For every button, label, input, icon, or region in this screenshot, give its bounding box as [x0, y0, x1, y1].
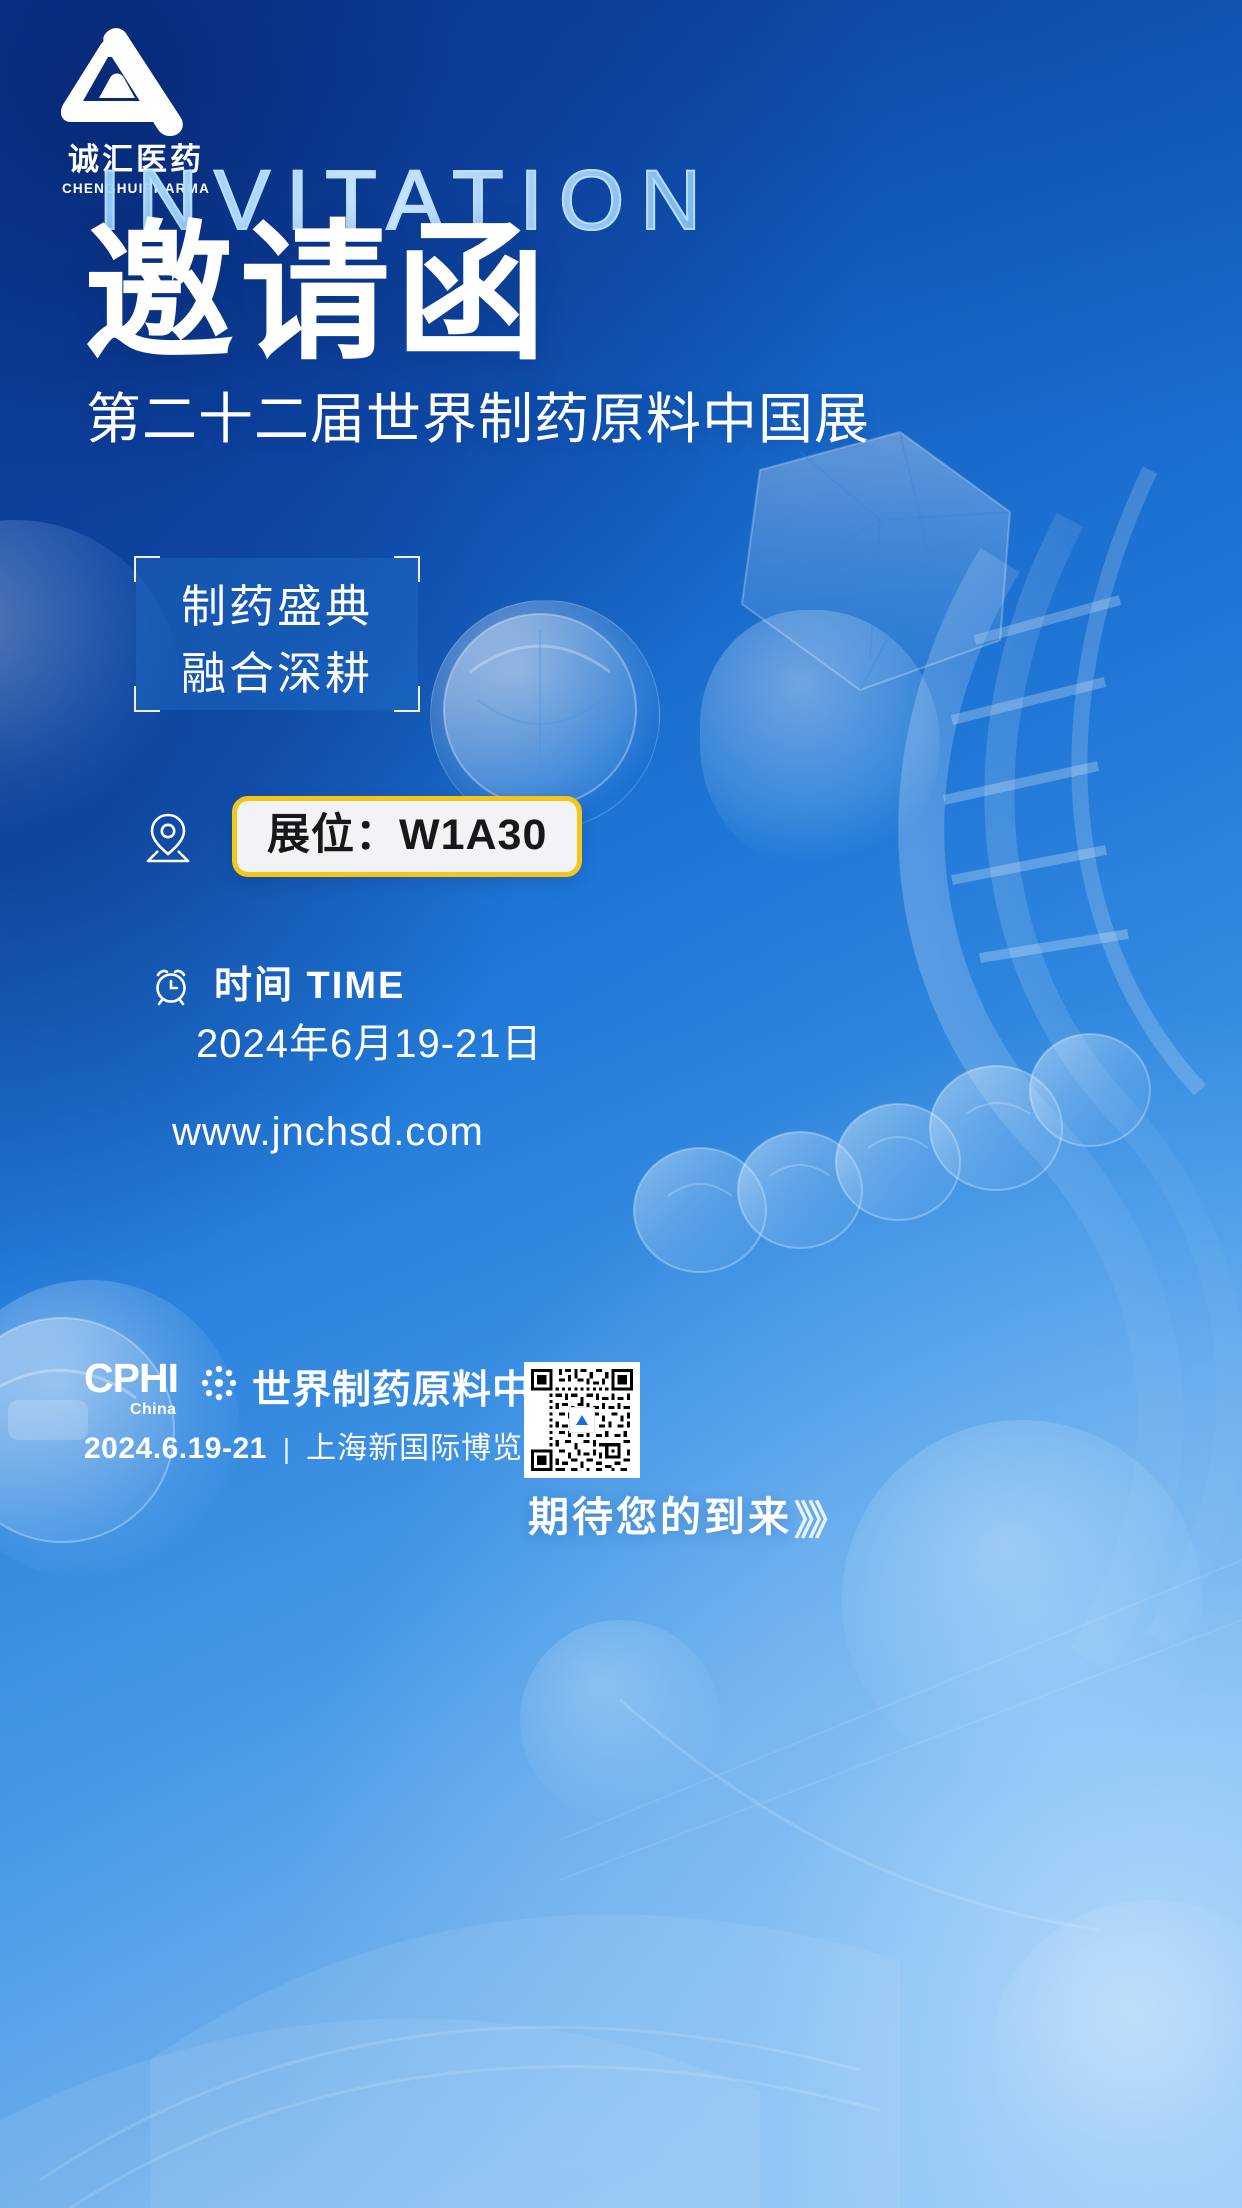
time-heading: 时间 TIME [150, 965, 405, 1007]
closing-text: 期待您的到来 [528, 1497, 792, 1538]
time-label: 时间 TIME [214, 967, 405, 1005]
expo-separator: | [283, 1435, 290, 1463]
triangle-mountain-mark-icon [61, 26, 211, 138]
chenghui-logo-mark-icon [576, 1415, 588, 1425]
corner-bracket-top-right [394, 556, 420, 582]
qr-code[interactable] [524, 1362, 640, 1478]
corner-bracket-bottom-left [134, 686, 160, 712]
chevron-right-icon: 》》 [794, 1488, 842, 1546]
location-pin-icon [144, 811, 192, 863]
booth-label: 展位：W1A30 [267, 814, 547, 857]
qr-canvas [531, 1369, 633, 1471]
cphi-logo: CPHI China [84, 1358, 194, 1418]
cphi-region-label: China [130, 1402, 176, 1418]
booth-row: 展位：W1A30 [144, 796, 582, 877]
website-url[interactable]: www.jnchsd.com [172, 1112, 484, 1152]
qr-center-logo [569, 1407, 595, 1433]
expo-date: 2024.6.19-21 [84, 1434, 267, 1464]
closing-message: 期待您的到来 》》 [528, 1488, 842, 1546]
page-subtitle: 第二十二届世界制药原料中国展 [86, 392, 870, 447]
page-title: 邀请函 [84, 218, 552, 368]
time-value: 2024年6月19-21日 [196, 1024, 543, 1064]
expo-detail-row: 2024.6.19-21 | 上海新国际博览中心 [84, 1434, 585, 1464]
slogan-line-1: 制药盛典 [136, 584, 418, 629]
invitation-poster: 诚汇医药 CHENGHUIPHARMA INVITATION 邀请函 第二十二届… [0, 0, 1242, 2208]
booth-badge[interactable]: 展位：W1A30 [232, 796, 582, 877]
corner-bracket-bottom-right [394, 686, 420, 712]
slogan-line-2: 融合深耕 [136, 651, 418, 696]
slogan-box: 制药盛典 融合深耕 [136, 558, 418, 710]
alarm-clock-icon [150, 965, 192, 1007]
corner-bracket-top-left [134, 556, 160, 582]
cphi-wordmark: CPHI [84, 1358, 194, 1399]
cphi-flower-icon [198, 1362, 240, 1404]
